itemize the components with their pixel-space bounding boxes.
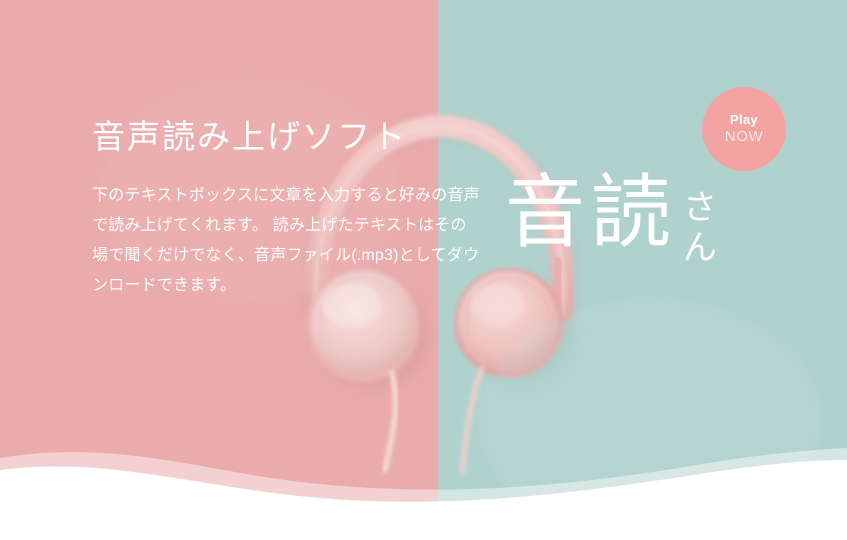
brand-suffix: さ ん	[683, 188, 717, 268]
wave-divider	[0, 430, 847, 540]
page-title: 音声読み上げソフト	[92, 116, 492, 157]
play-now-button-title: Play	[730, 112, 758, 128]
brand-suffix-char-1: さ	[683, 188, 717, 228]
brand-lockup: 音読 さ ん	[505, 176, 717, 268]
hero-banner: 音声読み上げソフト 下のテキストボックスに文章を入力すると好みの音声で読み上げて…	[0, 0, 847, 540]
play-now-button[interactable]: Play NOW	[702, 87, 786, 171]
brand-name: 音読	[505, 176, 677, 250]
brand-suffix-char-2: ん	[683, 228, 717, 268]
play-now-button-subtitle: NOW	[725, 128, 763, 146]
hero-copy: 音声読み上げソフト 下のテキストボックスに文章を入力すると好みの音声で読み上げて…	[92, 116, 492, 301]
hero-description: 下のテキストボックスに文章を入力すると好みの音声で読み上げてくれます。 読み上げ…	[92, 181, 482, 301]
